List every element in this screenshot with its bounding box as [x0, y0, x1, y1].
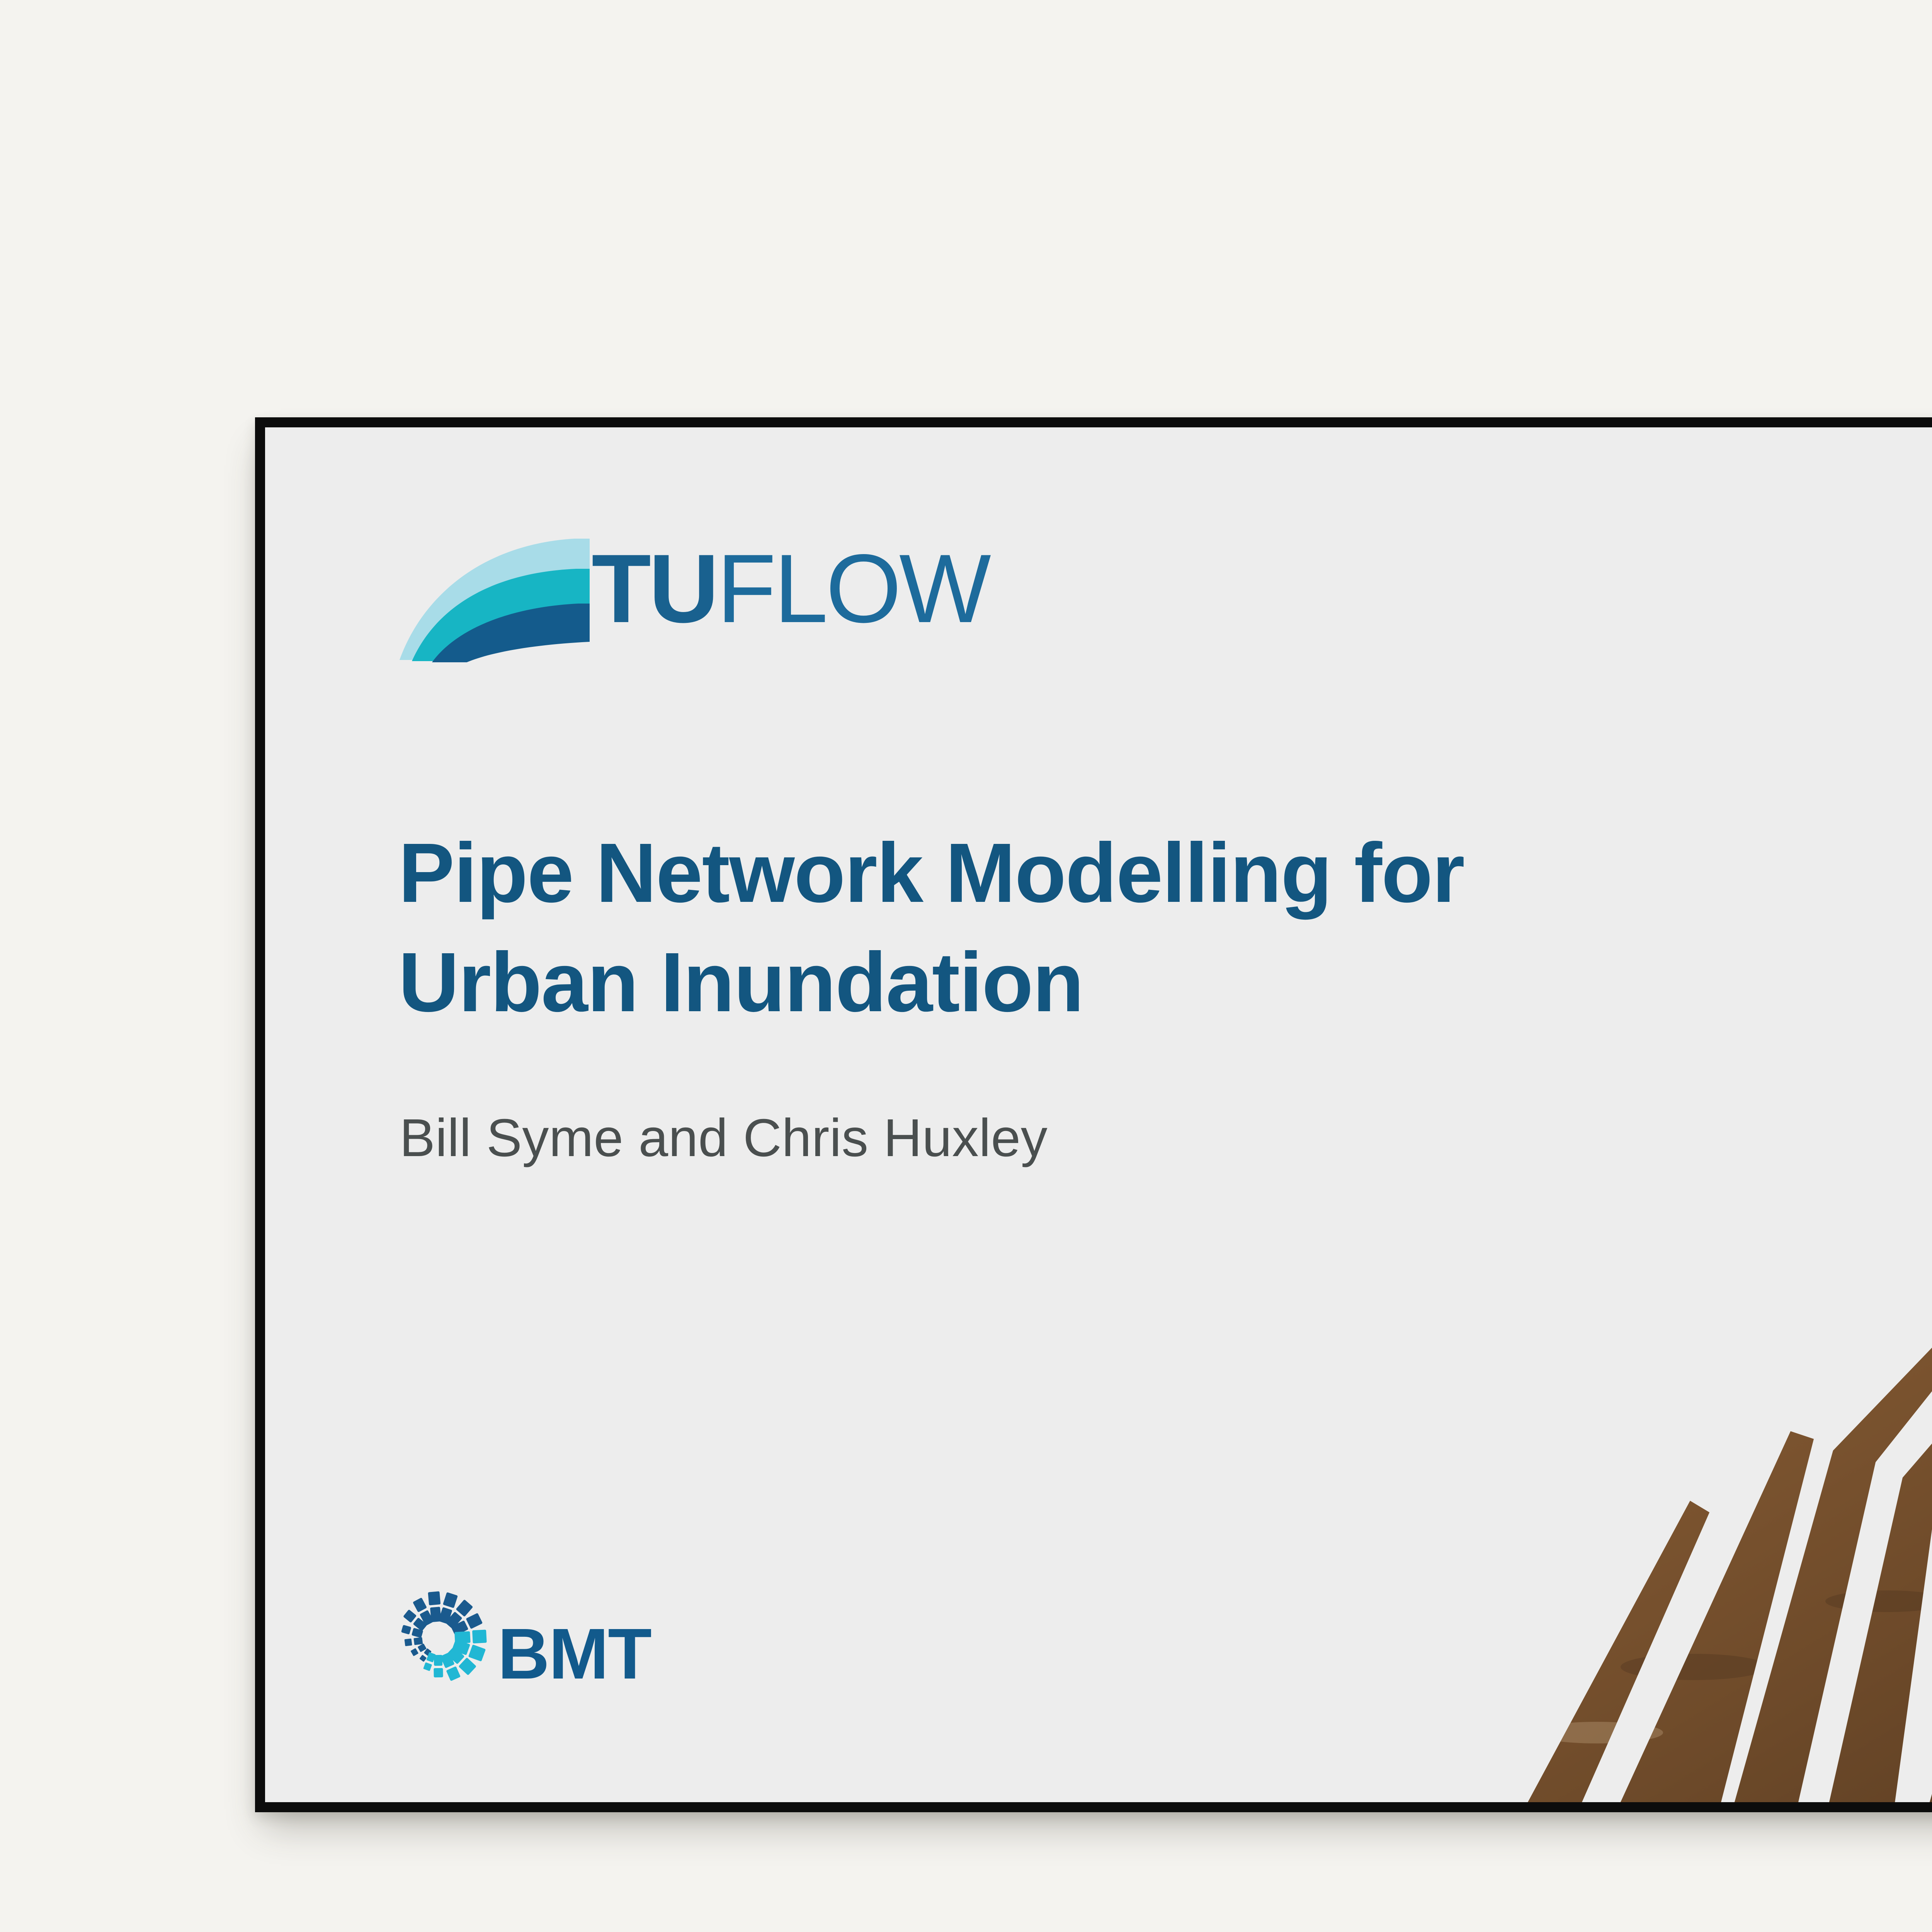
tuflow-wave-icon — [396, 536, 605, 663]
presenter-names: Bill Syme and Chris Huxley — [400, 1107, 1048, 1169]
page-backdrop: TUFLOW aws — [0, 0, 1932, 1932]
slide-bevel: TUFLOW aws — [265, 427, 1932, 1802]
page-title: Pipe Network Modelling for Urban Inundat… — [398, 818, 1712, 1037]
bmt-swirl-icon — [386, 1587, 490, 1691]
tuflow-logo: TUFLOW — [396, 532, 1142, 671]
pipe-trench-photo — [1211, 1184, 1932, 1802]
presentation-slide: TUFLOW aws — [265, 427, 1932, 1802]
slide-frame: TUFLOW aws — [255, 417, 1932, 1812]
photo-svg — [1211, 1184, 1932, 1802]
title-line-1: Pipe Network Modelling for — [398, 818, 1712, 928]
tuflow-word-tu: TU — [592, 534, 717, 643]
bmt-logo: BMT — [386, 1587, 679, 1702]
tuflow-wordmark: TUFLOW — [592, 540, 989, 638]
title-line-2: Urban Inundation — [398, 928, 1712, 1037]
bmt-wordmark: BMT — [498, 1618, 651, 1690]
tuflow-word-flow: FLOW — [717, 534, 989, 643]
